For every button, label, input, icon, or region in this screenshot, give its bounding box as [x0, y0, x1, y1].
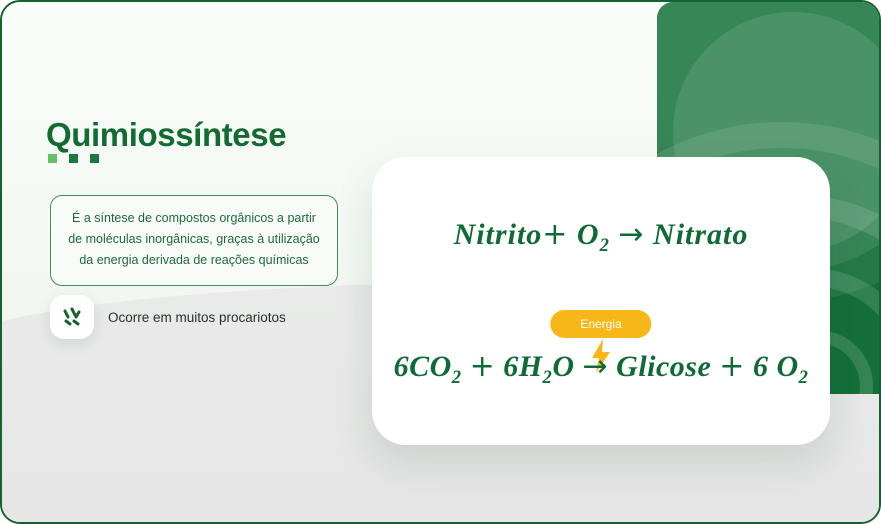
- bacteria-icon: [59, 304, 85, 330]
- eq1-right-term: Nitrato: [653, 218, 748, 251]
- square-dot-3: [90, 154, 99, 163]
- eq2-h2o-tail: O: [552, 350, 574, 383]
- eq2-o2-sub: 2: [799, 367, 809, 388]
- eq2-co2: 6CO: [394, 350, 452, 383]
- decorative-dots: [48, 154, 99, 163]
- eq2-co2-sub: 2: [452, 367, 462, 388]
- description-box: É a síntese de compostos orgânicos a par…: [50, 195, 338, 286]
- slide-canvas: Quimiossíntese É a síntese de compostos …: [0, 0, 881, 524]
- eq1-oxygen: O: [577, 218, 600, 251]
- square-dot-2: [69, 154, 78, 163]
- eq2-plus-1: +: [470, 349, 496, 384]
- equation-card: Nitrito+ O2 → Nitrato Energia 6CO2 + 6H2…: [372, 157, 830, 445]
- eq1-left-term: Nitrito: [454, 218, 543, 251]
- eq2-plus-2: +: [719, 349, 745, 384]
- eq2-o2: 6 O: [753, 350, 799, 383]
- eq2-h2o-sub: 2: [543, 367, 553, 388]
- eq2-product: Glicose: [616, 350, 711, 383]
- eq1-arrow: →: [618, 217, 644, 252]
- eq1-oxygen-sub: 2: [600, 235, 610, 256]
- energy-badge: Energia: [550, 310, 651, 338]
- equation-fotossintese: 6CO2 + 6H2O → Glicose + 6 O2: [372, 349, 830, 389]
- fact-label: Ocorre em muitos procariotos: [108, 310, 286, 325]
- square-dot-1: [48, 154, 57, 163]
- bacteria-icon-badge: [50, 295, 94, 339]
- page-title: Quimiossíntese: [46, 114, 296, 156]
- eq2-h2o: 6H: [503, 350, 542, 383]
- equation-nitrito: Nitrito+ O2 → Nitrato: [372, 217, 830, 257]
- eq2-arrow: →: [583, 349, 609, 384]
- fact-row: Ocorre em muitos procariotos: [50, 295, 286, 339]
- eq1-plus: +: [542, 217, 568, 252]
- left-column: Quimiossíntese É a síntese de compostos …: [2, 2, 362, 524]
